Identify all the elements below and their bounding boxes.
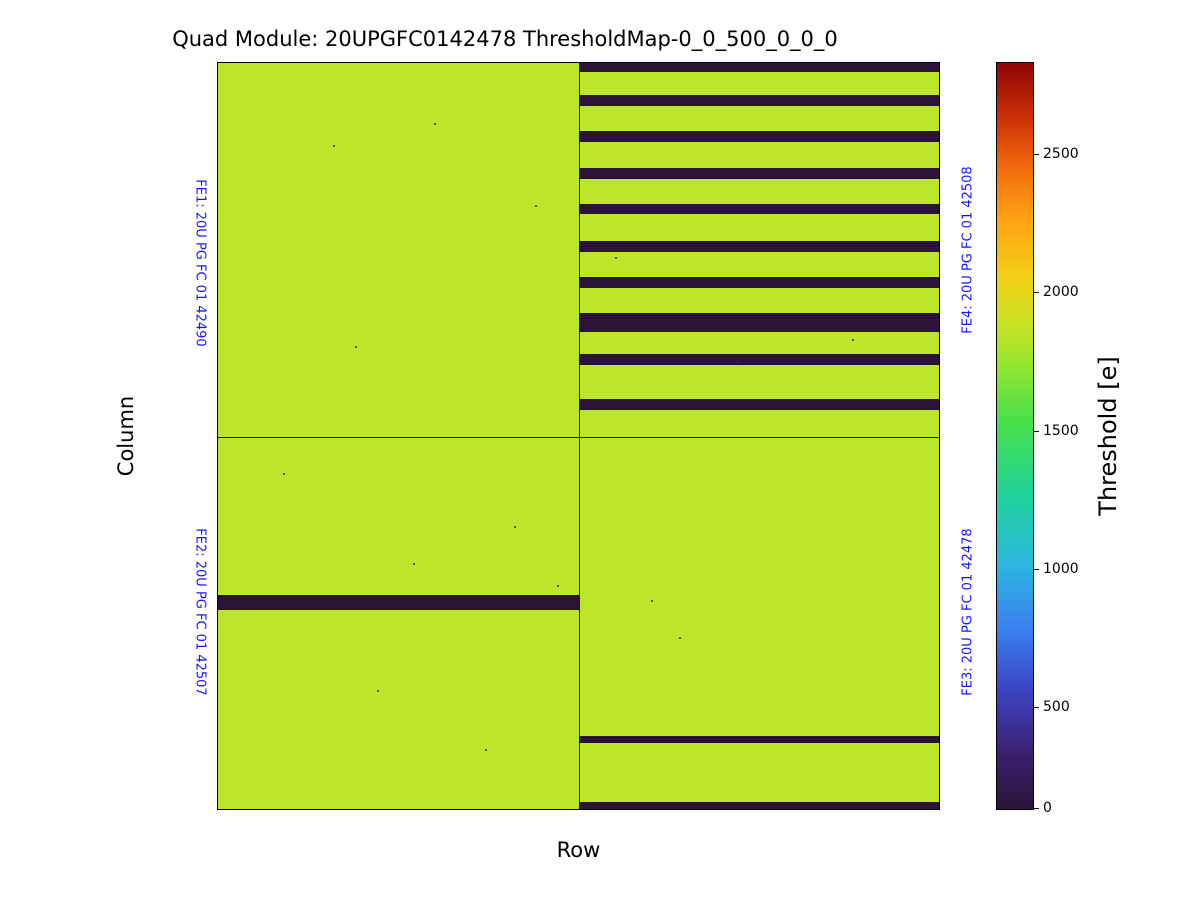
xtick-minor bbox=[549, 809, 550, 810]
noise-pixel bbox=[679, 637, 681, 639]
xtick-minor bbox=[789, 809, 790, 810]
colorbar-tick-label-2500: 2500 bbox=[1043, 146, 1079, 162]
xtick-minor bbox=[278, 809, 279, 810]
xtick-minor bbox=[429, 809, 430, 810]
xtick-minor bbox=[729, 809, 730, 810]
dead-band bbox=[579, 399, 940, 410]
threshold-heatmap bbox=[218, 63, 939, 809]
dead-band bbox=[579, 354, 940, 365]
colorbar-tick bbox=[1034, 431, 1039, 432]
xtick-neg384 bbox=[218, 809, 219, 810]
noise-pixel bbox=[434, 123, 436, 125]
dead-band bbox=[579, 277, 940, 288]
dead-band bbox=[579, 63, 940, 72]
xtick-minor bbox=[519, 809, 520, 810]
ytick-minor bbox=[217, 110, 218, 111]
xtick-minor bbox=[759, 809, 760, 810]
dead-band bbox=[579, 313, 940, 332]
xtick-minor bbox=[819, 809, 820, 810]
xtick-minor bbox=[669, 809, 670, 810]
xtick-minor bbox=[368, 809, 369, 810]
ytick-minor bbox=[217, 203, 218, 204]
fe3-chip-label: FE3: 20U PG FC 01 42478 bbox=[961, 528, 976, 695]
noise-pixel bbox=[535, 205, 537, 207]
heatmap-axes: 400 0 −400 −384 0 384 bbox=[217, 62, 940, 810]
xtick-0 bbox=[579, 809, 580, 810]
ytick-0 bbox=[217, 437, 218, 438]
noise-pixel bbox=[485, 749, 487, 751]
x-axis-label: Row bbox=[217, 838, 940, 862]
noise-pixel bbox=[737, 361, 739, 363]
dead-band bbox=[579, 204, 940, 214]
xtick-minor bbox=[459, 809, 460, 810]
ytick-minor bbox=[217, 343, 218, 344]
xtick-minor bbox=[639, 809, 640, 810]
ytick-minor bbox=[217, 390, 218, 391]
colorbar: 2500 2000 1500 1000 500 0 bbox=[996, 62, 1034, 810]
ytick-minor bbox=[217, 577, 218, 578]
ytick-neg400 bbox=[217, 809, 218, 810]
dead-band bbox=[579, 736, 940, 743]
dead-band bbox=[579, 131, 940, 142]
xtick-minor bbox=[609, 809, 610, 810]
dead-band bbox=[218, 595, 579, 610]
noise-pixel bbox=[355, 346, 357, 348]
xtick-minor bbox=[849, 809, 850, 810]
noise-pixel bbox=[283, 473, 285, 475]
noise-pixel bbox=[514, 526, 516, 528]
dead-band bbox=[579, 241, 940, 252]
ytick-minor bbox=[217, 623, 218, 624]
colorbar-gradient bbox=[996, 62, 1034, 810]
ytick-minor bbox=[217, 670, 218, 671]
colorbar-tick bbox=[1034, 569, 1039, 570]
colorbar-tick bbox=[1034, 292, 1039, 293]
ytick-minor bbox=[217, 717, 218, 718]
xtick-minor bbox=[909, 809, 910, 810]
colorbar-label: Threshold [e] bbox=[1094, 356, 1122, 515]
fe2-chip-label: FE2: 20U PG FC 01 42507 bbox=[193, 528, 208, 695]
y-axis-label: Column bbox=[114, 396, 138, 476]
quadrant-divider-horizontal bbox=[218, 437, 939, 438]
colorbar-tick-label-1000: 1000 bbox=[1043, 561, 1079, 577]
colorbar-tick-label-1500: 1500 bbox=[1043, 423, 1079, 439]
fe1-chip-label: FE1: 20U PG FC 01 42490 bbox=[193, 179, 208, 346]
fe4-chip-label: FE4: 20U PG FC 01 42508 bbox=[961, 166, 976, 333]
colorbar-tick-label-2000: 2000 bbox=[1043, 284, 1079, 300]
xtick-minor bbox=[489, 809, 490, 810]
dead-band bbox=[579, 95, 940, 106]
colorbar-tick-label-500: 500 bbox=[1043, 699, 1070, 715]
dead-band bbox=[579, 168, 940, 179]
noise-pixel bbox=[377, 690, 379, 692]
colorbar-tick bbox=[1034, 707, 1039, 708]
noise-pixel bbox=[615, 257, 617, 259]
colorbar-tick bbox=[1034, 154, 1039, 155]
xtick-minor bbox=[879, 809, 880, 810]
noise-pixel bbox=[651, 600, 653, 602]
xtick-minor bbox=[308, 809, 309, 810]
page-title: Quad Module: 20UPGFC0142478 ThresholdMap… bbox=[0, 27, 1010, 51]
noise-pixel bbox=[333, 145, 335, 147]
ytick-400 bbox=[217, 63, 218, 64]
noise-pixel bbox=[852, 339, 854, 341]
xtick-384 bbox=[939, 809, 940, 810]
quadrant-divider-vertical bbox=[579, 63, 580, 809]
xtick-minor bbox=[338, 809, 339, 810]
colorbar-tick-label-0: 0 bbox=[1043, 800, 1052, 816]
ytick-minor bbox=[217, 250, 218, 251]
noise-pixel bbox=[413, 563, 415, 565]
xtick-minor bbox=[699, 809, 700, 810]
xtick-minor bbox=[399, 809, 400, 810]
xtick-minor bbox=[248, 809, 249, 810]
ytick-minor bbox=[217, 530, 218, 531]
ytick-minor bbox=[217, 483, 218, 484]
ytick-minor bbox=[217, 297, 218, 298]
ytick-minor bbox=[217, 156, 218, 157]
ytick-minor bbox=[217, 763, 218, 764]
noise-pixel bbox=[557, 585, 559, 587]
colorbar-tick bbox=[1034, 808, 1039, 809]
